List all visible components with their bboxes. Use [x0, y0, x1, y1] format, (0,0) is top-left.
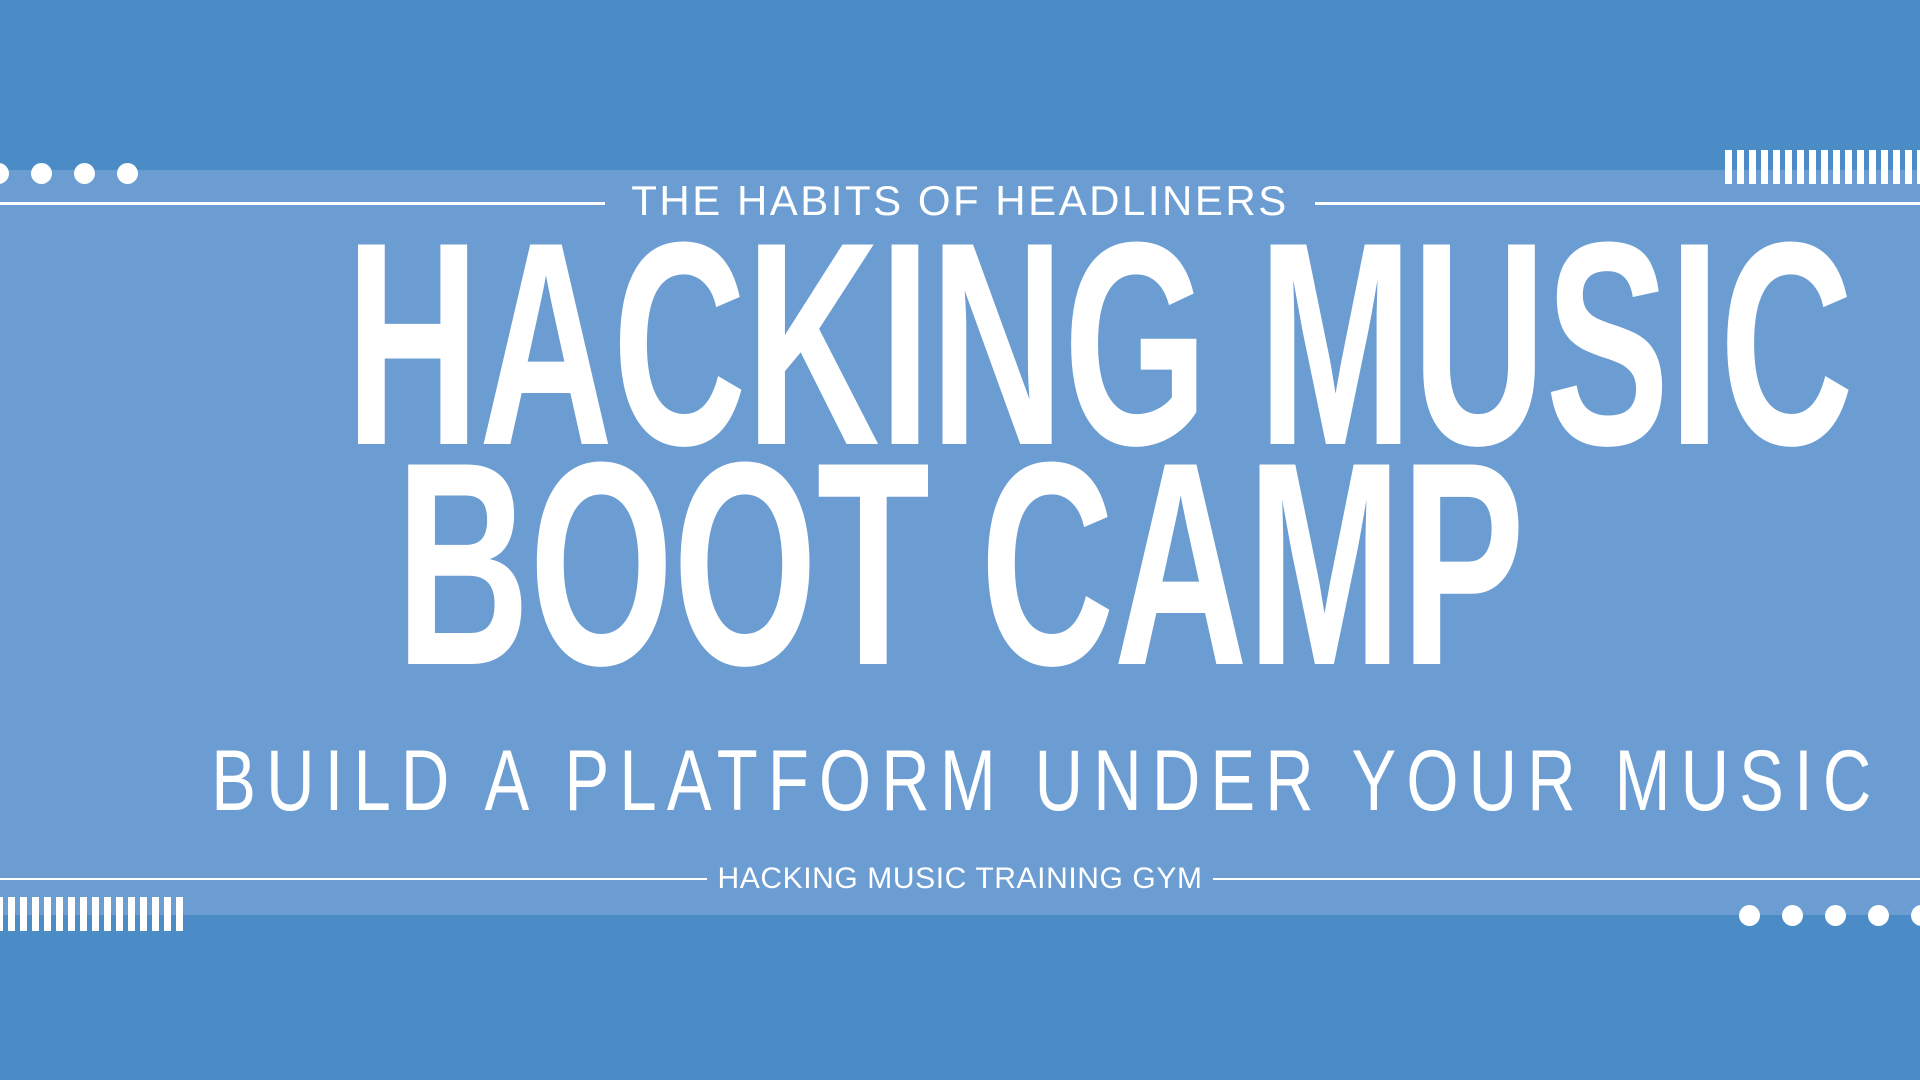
tick-mark-icon: [20, 897, 27, 931]
dot-icon: [1739, 905, 1760, 926]
tick-mark-icon: [1881, 150, 1888, 184]
eyebrow-label: THE HABITS OF HEADLINERS: [605, 180, 1314, 222]
tick-mark-icon: [1749, 150, 1756, 184]
footer-label: HACKING MUSIC TRAINING GYM: [707, 864, 1212, 894]
bottom-right-dots-decoration: [1739, 905, 1920, 926]
tick-mark-icon: [1761, 150, 1768, 184]
tick-mark-icon: [68, 897, 75, 931]
tick-mark-icon: [1893, 150, 1900, 184]
dot-icon: [74, 163, 95, 184]
footer-rule-row: HACKING MUSIC TRAINING GYM: [0, 864, 1920, 894]
eyebrow-rule-left: [0, 202, 605, 205]
tick-mark-icon: [140, 897, 147, 931]
dot-icon: [1782, 905, 1803, 926]
tick-mark-icon: [1869, 150, 1876, 184]
tick-mark-icon: [1785, 150, 1792, 184]
headline-block: HACKING MUSIC BOOT CAMP: [0, 228, 1920, 680]
tick-mark-icon: [1821, 150, 1828, 184]
tick-mark-icon: [92, 897, 99, 931]
tick-mark-icon: [116, 897, 123, 931]
eyebrow-rule-row: THE HABITS OF HEADLINERS: [0, 182, 1920, 224]
dot-icon: [1825, 905, 1846, 926]
tick-mark-icon: [1857, 150, 1864, 184]
headline-line-2: BOOT CAMP: [346, 448, 1575, 680]
tick-mark-icon: [176, 897, 183, 931]
dot-icon: [117, 163, 138, 184]
eyebrow-rule-right: [1315, 202, 1920, 205]
tick-mark-icon: [1845, 150, 1852, 184]
dot-icon: [1868, 905, 1889, 926]
dot-icon: [31, 163, 52, 184]
tick-mark-icon: [44, 897, 51, 931]
tick-mark-icon: [128, 897, 135, 931]
tick-mark-icon: [1905, 150, 1912, 184]
tick-mark-icon: [0, 897, 3, 931]
tick-mark-icon: [80, 897, 87, 931]
top-right-ticks-decoration: [1725, 150, 1920, 184]
tick-mark-icon: [32, 897, 39, 931]
tick-mark-icon: [1725, 150, 1732, 184]
subtitle-text: BUILD A PLATFORM UNDER YOUR MUSIC: [211, 738, 1709, 824]
tick-mark-icon: [1809, 150, 1816, 184]
poster-canvas: THE HABITS OF HEADLINERS HACKING MUSIC B…: [0, 0, 1920, 1080]
dot-icon: [1911, 905, 1920, 926]
top-left-dots-decoration: [0, 163, 138, 184]
tick-mark-icon: [104, 897, 111, 931]
footer-rule-left: [0, 878, 707, 880]
tick-mark-icon: [1737, 150, 1744, 184]
tick-mark-icon: [8, 897, 15, 931]
footer-rule-right: [1213, 878, 1920, 880]
tick-mark-icon: [1773, 150, 1780, 184]
tick-mark-icon: [152, 897, 159, 931]
tick-mark-icon: [1797, 150, 1804, 184]
bottom-left-ticks-decoration: [0, 897, 183, 931]
dot-icon: [0, 163, 9, 184]
tick-mark-icon: [56, 897, 63, 931]
tick-mark-icon: [1833, 150, 1840, 184]
tick-mark-icon: [164, 897, 171, 931]
